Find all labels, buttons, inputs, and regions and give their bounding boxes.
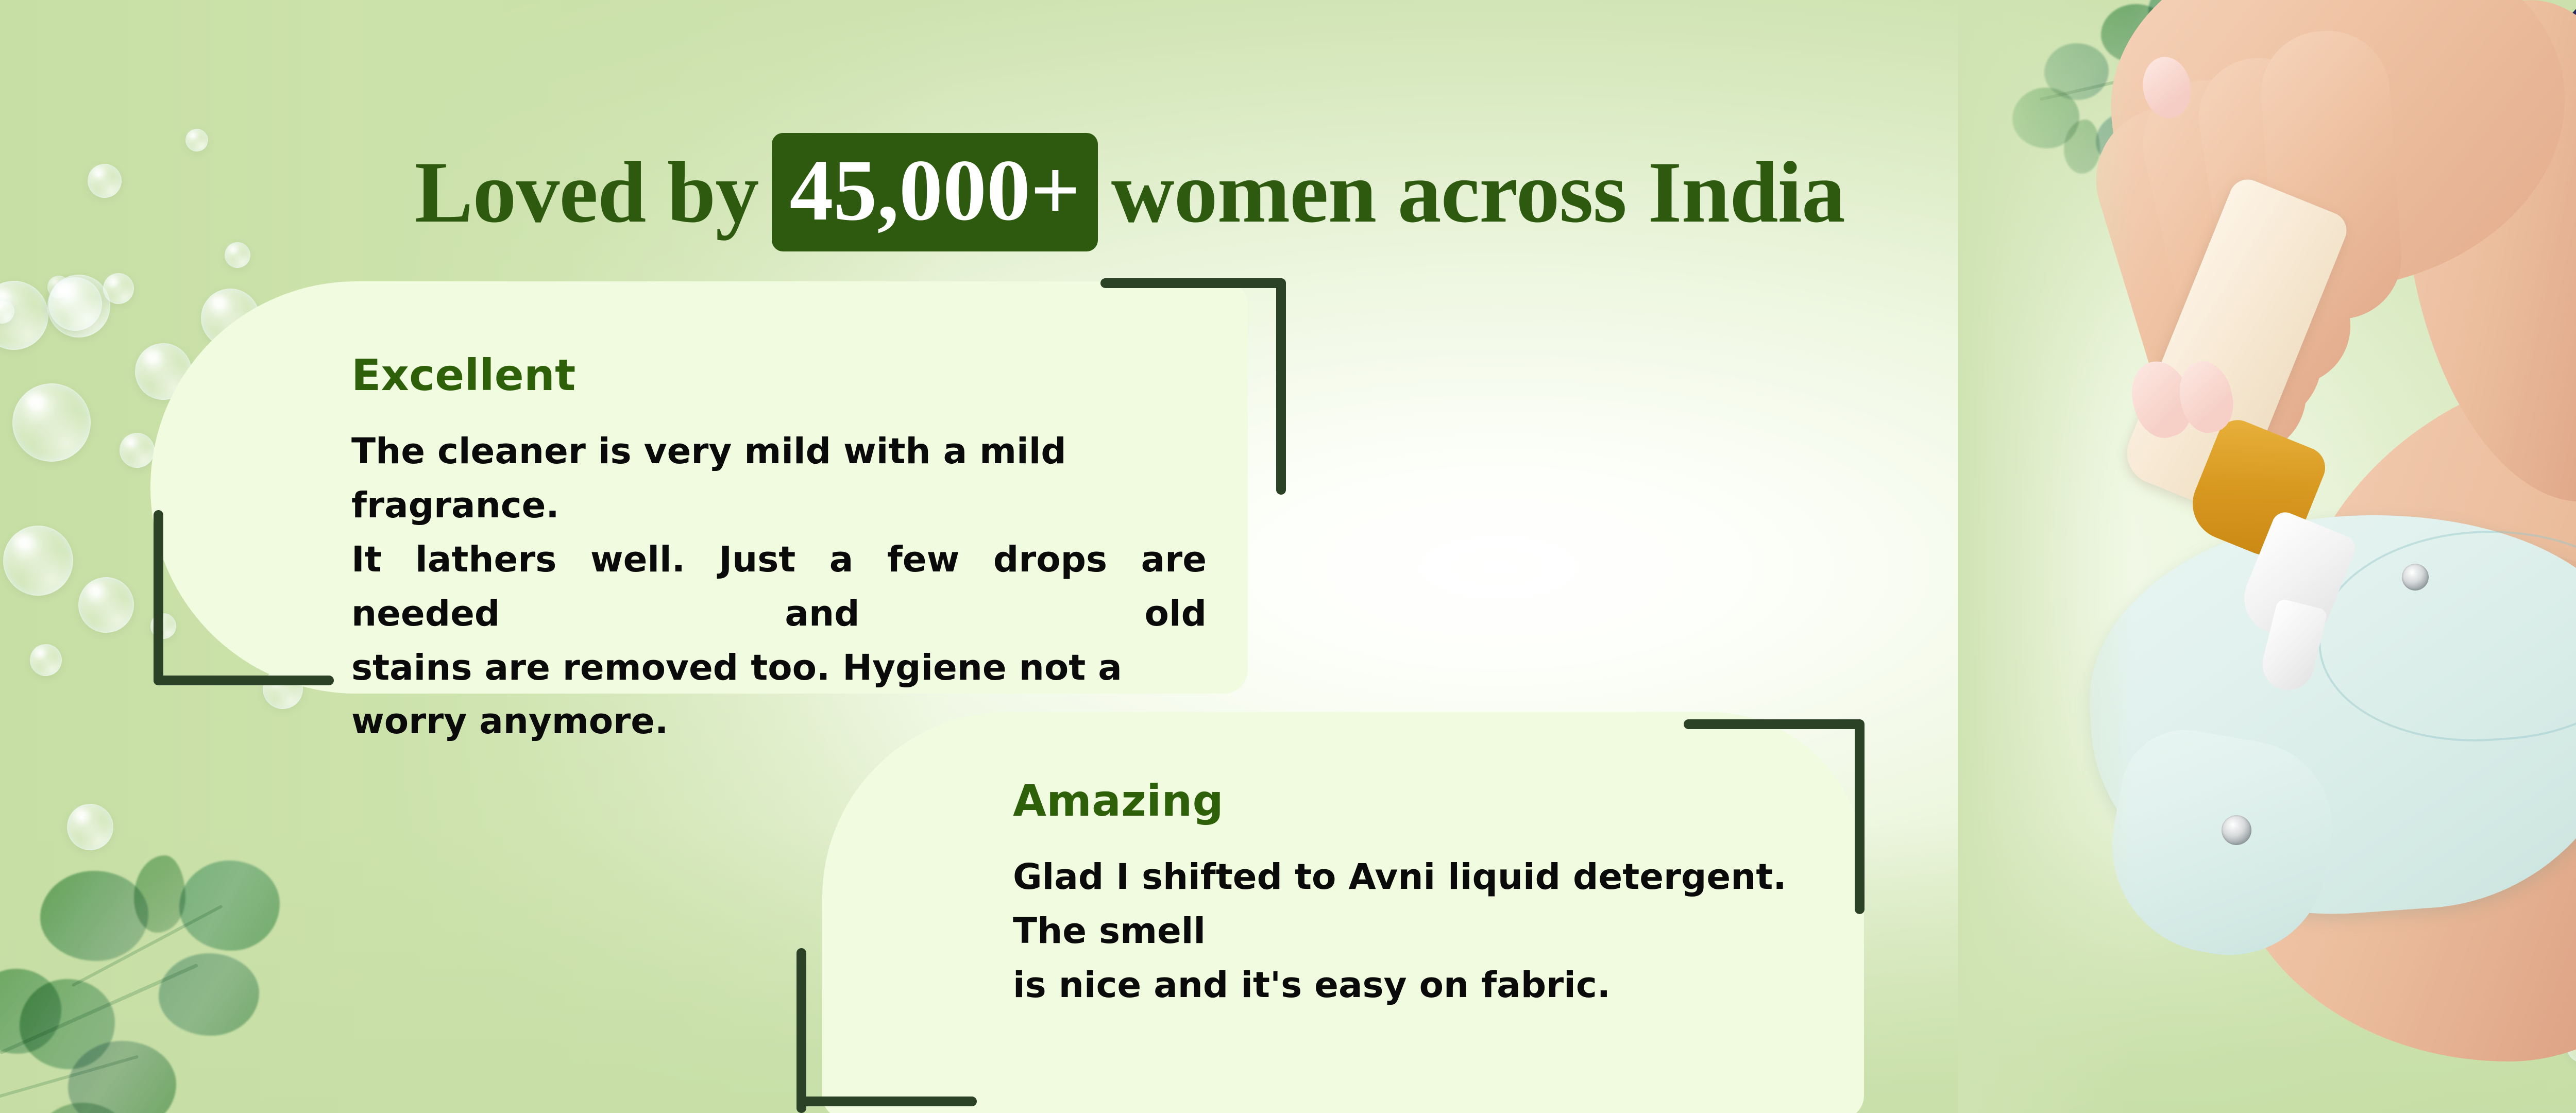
page-title: Loved by 45,000+ women across India (415, 133, 1845, 251)
water-bubble-icon (78, 577, 134, 633)
leaf (179, 861, 280, 951)
headline-before: Loved by (415, 148, 758, 236)
water-bubble-icon (48, 277, 102, 331)
product-photo (1958, 0, 2576, 1113)
headline-after: women across India (1111, 148, 1845, 236)
water-bubble-icon (120, 433, 155, 468)
leaf (40, 871, 148, 961)
banner-root: Loved by 45,000+ women across India Exce… (0, 0, 2576, 1113)
eucalyptus-sprig-bottom-left (0, 763, 402, 1113)
testimonial-line: It lathers well. Just a few drops are ne… (351, 533, 1207, 641)
count-badge: 45,000+ (772, 133, 1097, 251)
leaf (159, 953, 259, 1036)
water-bubble-icon (3, 526, 73, 596)
testimonial-line: The cleaner is very mild with a mild fra… (351, 425, 1207, 533)
water-bubble-icon (185, 129, 208, 151)
testimonial-content: Excellent The cleaner is very mild with … (351, 353, 1207, 749)
testimonial-body: Glad I shifted to Avni liquid detergent.… (1013, 850, 1796, 1013)
testimonial-card-excellent: Excellent The cleaner is very mild with … (150, 281, 1248, 694)
water-bubble-icon (30, 644, 62, 676)
testimonial-line: is nice and it's easy on fabric. (1013, 958, 1796, 1013)
count-badge-value: 45,000+ (789, 146, 1080, 234)
water-bubble-icon (12, 383, 91, 462)
testimonial-body: The cleaner is very mild with a mild fra… (351, 425, 1207, 749)
testimonial-content: Amazing Glad I shifted to Avni liquid de… (1013, 779, 1796, 1013)
testimonial-card-amazing: Amazing Glad I shifted to Avni liquid de… (822, 712, 1864, 1113)
water-bubble-icon (103, 273, 134, 304)
photo-edge-fade (1958, 0, 2133, 1113)
leaf (134, 855, 185, 933)
water-bubble-icon (88, 164, 122, 198)
testimonial-title: Amazing (1013, 779, 1796, 822)
water-bubble-icon (225, 242, 250, 268)
pad-snap-button (2222, 815, 2251, 845)
testimonial-line: Glad I shifted to Avni liquid detergent.… (1013, 850, 1796, 958)
pad-snap-button (2402, 564, 2429, 591)
testimonial-title: Excellent (351, 353, 1207, 397)
